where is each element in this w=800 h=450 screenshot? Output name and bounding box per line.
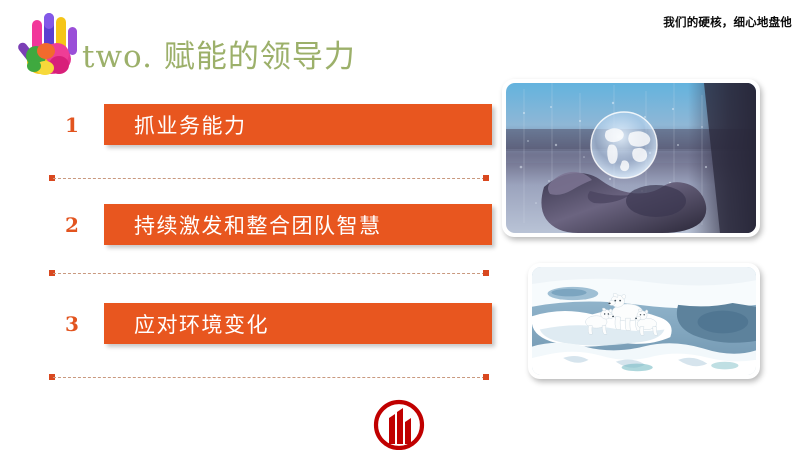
- photo-frame: [532, 267, 756, 375]
- list-item-number: 1: [59, 112, 85, 138]
- page-title: two. 赋能的领导力: [82, 31, 356, 76]
- list-item[interactable]: 1 抓业务能力: [40, 104, 492, 146]
- list-item-bar[interactable]: 持续激发和整合团队智慧: [104, 204, 492, 245]
- photo-frame: [506, 83, 756, 233]
- separator-cap-right: [483, 175, 489, 181]
- dotted-separator: [49, 175, 489, 182]
- company-circle-logo: [372, 398, 426, 450]
- list-item-bar[interactable]: 应对环境变化: [104, 303, 492, 344]
- slide-canvas: 我们的硬核，细心地盘他 two. 赋: [0, 0, 800, 450]
- header-note: 我们的硬核，细心地盘他: [663, 14, 792, 30]
- separator-line: [53, 178, 485, 179]
- dotted-separator: [49, 270, 489, 277]
- hand-holding-globe-photo: [502, 79, 760, 237]
- list-item[interactable]: 2 持续激发和整合团队智慧: [40, 204, 492, 246]
- colorful-handprint-logo: [12, 4, 86, 80]
- separator-line: [53, 273, 485, 274]
- separator-line: [53, 377, 485, 378]
- list-item[interactable]: 3 应对环境变化: [40, 303, 492, 345]
- list-item-number: 3: [59, 311, 85, 337]
- list-item-number: 2: [59, 212, 85, 238]
- dotted-separator: [49, 374, 489, 381]
- separator-cap-right: [483, 270, 489, 276]
- separator-cap-right: [483, 374, 489, 380]
- list-item-label: 应对环境变化: [134, 309, 269, 339]
- list-item-bar[interactable]: 抓业务能力: [104, 104, 492, 145]
- list-item-label: 持续激发和整合团队智慧: [134, 210, 382, 240]
- list-item-label: 抓业务能力: [134, 110, 247, 140]
- polar-bears-on-ice-photo: [528, 263, 760, 379]
